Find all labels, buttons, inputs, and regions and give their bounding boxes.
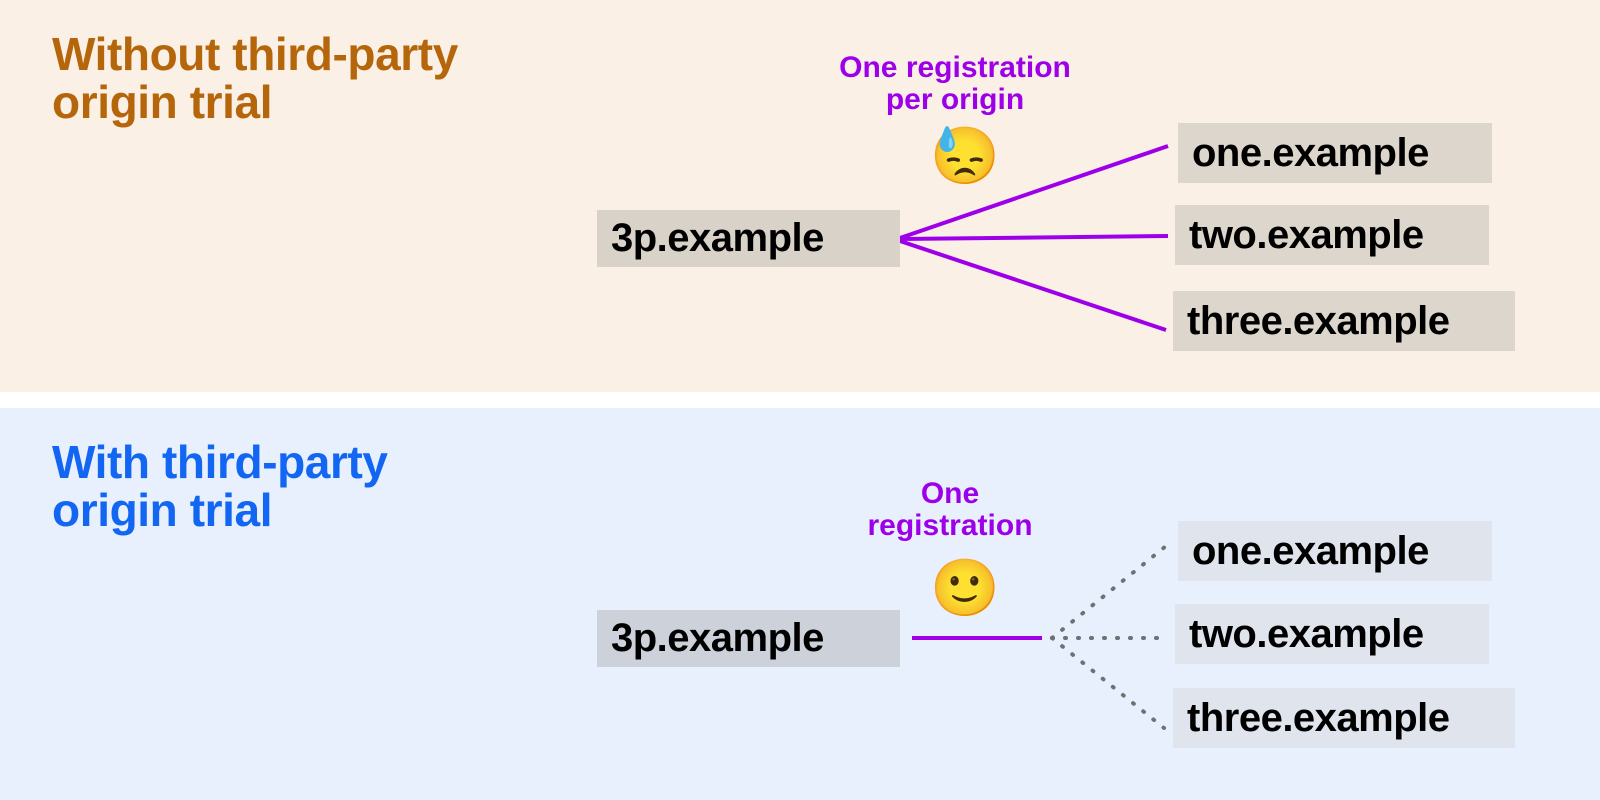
annotation-one-registration: One registration [825, 478, 1075, 543]
node-one-example-bottom[interactable]: one.example [1178, 521, 1492, 581]
edge-fan-to-one [1052, 546, 1166, 638]
annotation-one-registration-per-origin: One registration per origin [795, 52, 1115, 117]
edge-root-to-three [900, 241, 1166, 330]
node-two-example-top[interactable]: two.example [1175, 205, 1489, 265]
downcast-face-with-sweat-emoji: 😓 [930, 128, 1000, 184]
panel-without-origin-trial: Without third-party origin trial One reg… [0, 0, 1600, 392]
panel-with-origin-trial: With third-party origin trial One regist… [0, 408, 1600, 800]
panel-title-with-origin-trial: With third-party origin trial [52, 438, 388, 535]
node-one-example-top[interactable]: one.example [1178, 123, 1492, 183]
node-two-example-bottom[interactable]: two.example [1175, 604, 1489, 664]
edge-root-to-two [900, 236, 1168, 239]
diagram-stage: Without third-party origin trial One reg… [0, 0, 1600, 800]
node-three-example-bottom[interactable]: three.example [1173, 688, 1515, 748]
node-three-example-top[interactable]: three.example [1173, 291, 1515, 351]
edge-fan-to-three [1052, 638, 1164, 728]
node-3p-example-top[interactable]: 3p.example [597, 210, 900, 267]
panel-title-without-origin-trial: Without third-party origin trial [52, 30, 458, 127]
slightly-smiling-face-emoji: 🙂 [930, 560, 1000, 616]
node-3p-example-bottom[interactable]: 3p.example [597, 610, 900, 667]
